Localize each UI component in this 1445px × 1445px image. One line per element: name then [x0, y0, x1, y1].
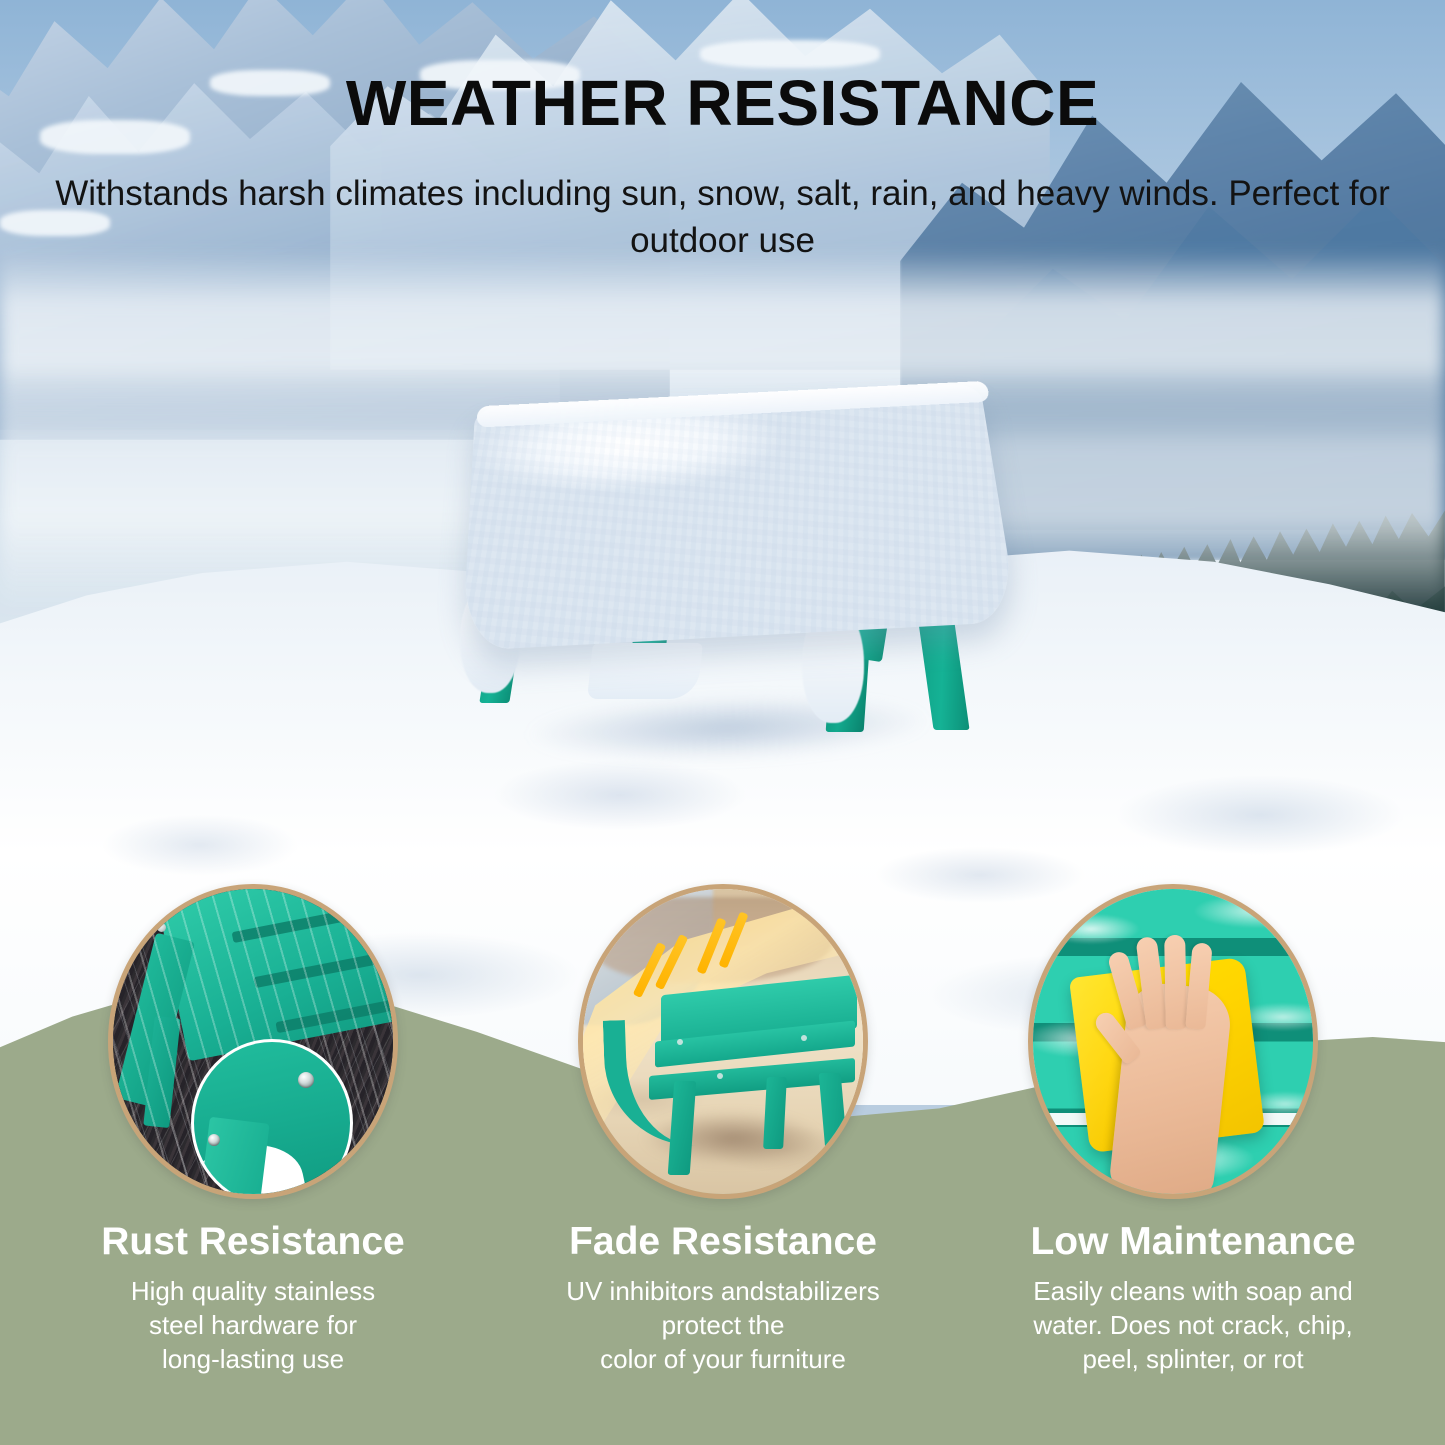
feature-caption-low-maintenance: Low Maintenance Easily cleans with soap … [958, 1218, 1428, 1376]
feature-image-fade-resistance [578, 884, 868, 1199]
magnified-slat [198, 1117, 269, 1199]
screw-icon [801, 1035, 807, 1041]
hero-chair [430, 385, 1030, 765]
feature-description: Easily cleans with soap and water. Does … [958, 1274, 1428, 1376]
chair-shadow [447, 675, 1010, 780]
page-subtitle: Withstands harsh climates including sun,… [0, 170, 1445, 264]
snow-shelf [587, 643, 703, 699]
chair-leg-middle [763, 1077, 787, 1149]
screw-icon [717, 1073, 723, 1079]
feature-caption-fade-resistance: Fade Resistance UV inhibitors andstabili… [488, 1218, 958, 1376]
feature-title: Low Maintenance [958, 1218, 1428, 1266]
page-title: WEATHER RESISTANCE [0, 66, 1445, 140]
feature-description: UV inhibitors andstabilizers protect the… [488, 1274, 958, 1376]
feature-title: Fade Resistance [488, 1218, 958, 1266]
feature-image-low-maintenance [1028, 884, 1318, 1199]
feature-image-rust-resistance [108, 884, 398, 1199]
feature-description: High quality stainless steel hardware fo… [18, 1274, 488, 1376]
screw-icon [677, 1039, 683, 1045]
stainless-screw-icon [298, 1072, 314, 1088]
product-feature-banner: WEATHER RESISTANCE Withstands harsh clim… [0, 0, 1445, 1445]
stainless-screw-icon [208, 1134, 220, 1146]
beach-chair [605, 985, 855, 1175]
feature-caption-rust-resistance: Rust Resistance High quality stainless s… [18, 1218, 488, 1376]
feature-title: Rust Resistance [18, 1218, 488, 1266]
chair-leg-back [819, 1073, 850, 1173]
magnified-screw-inset [191, 1039, 353, 1199]
snowcap-icon [700, 40, 880, 68]
finger [1164, 935, 1187, 1029]
